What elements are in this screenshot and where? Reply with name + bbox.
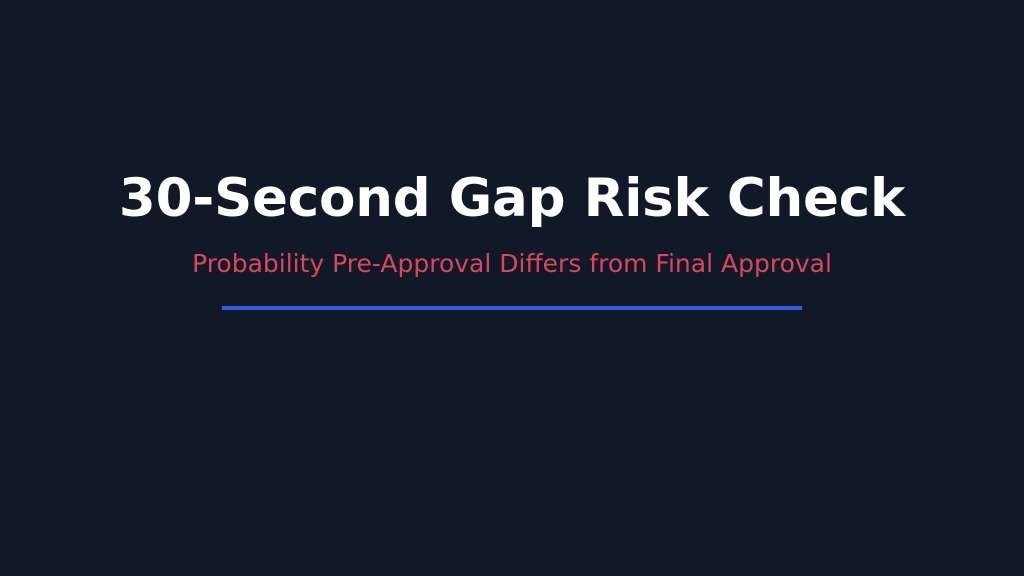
page-title: 30-Second Gap Risk Check	[119, 170, 905, 227]
title-slide: 30-Second Gap Risk Check Probability Pre…	[0, 0, 1024, 576]
accent-divider	[222, 306, 802, 310]
title-block: 30-Second Gap Risk Check Probability Pre…	[0, 0, 1024, 576]
page-subtitle: Probability Pre-Approval Differs from Fi…	[192, 249, 832, 279]
